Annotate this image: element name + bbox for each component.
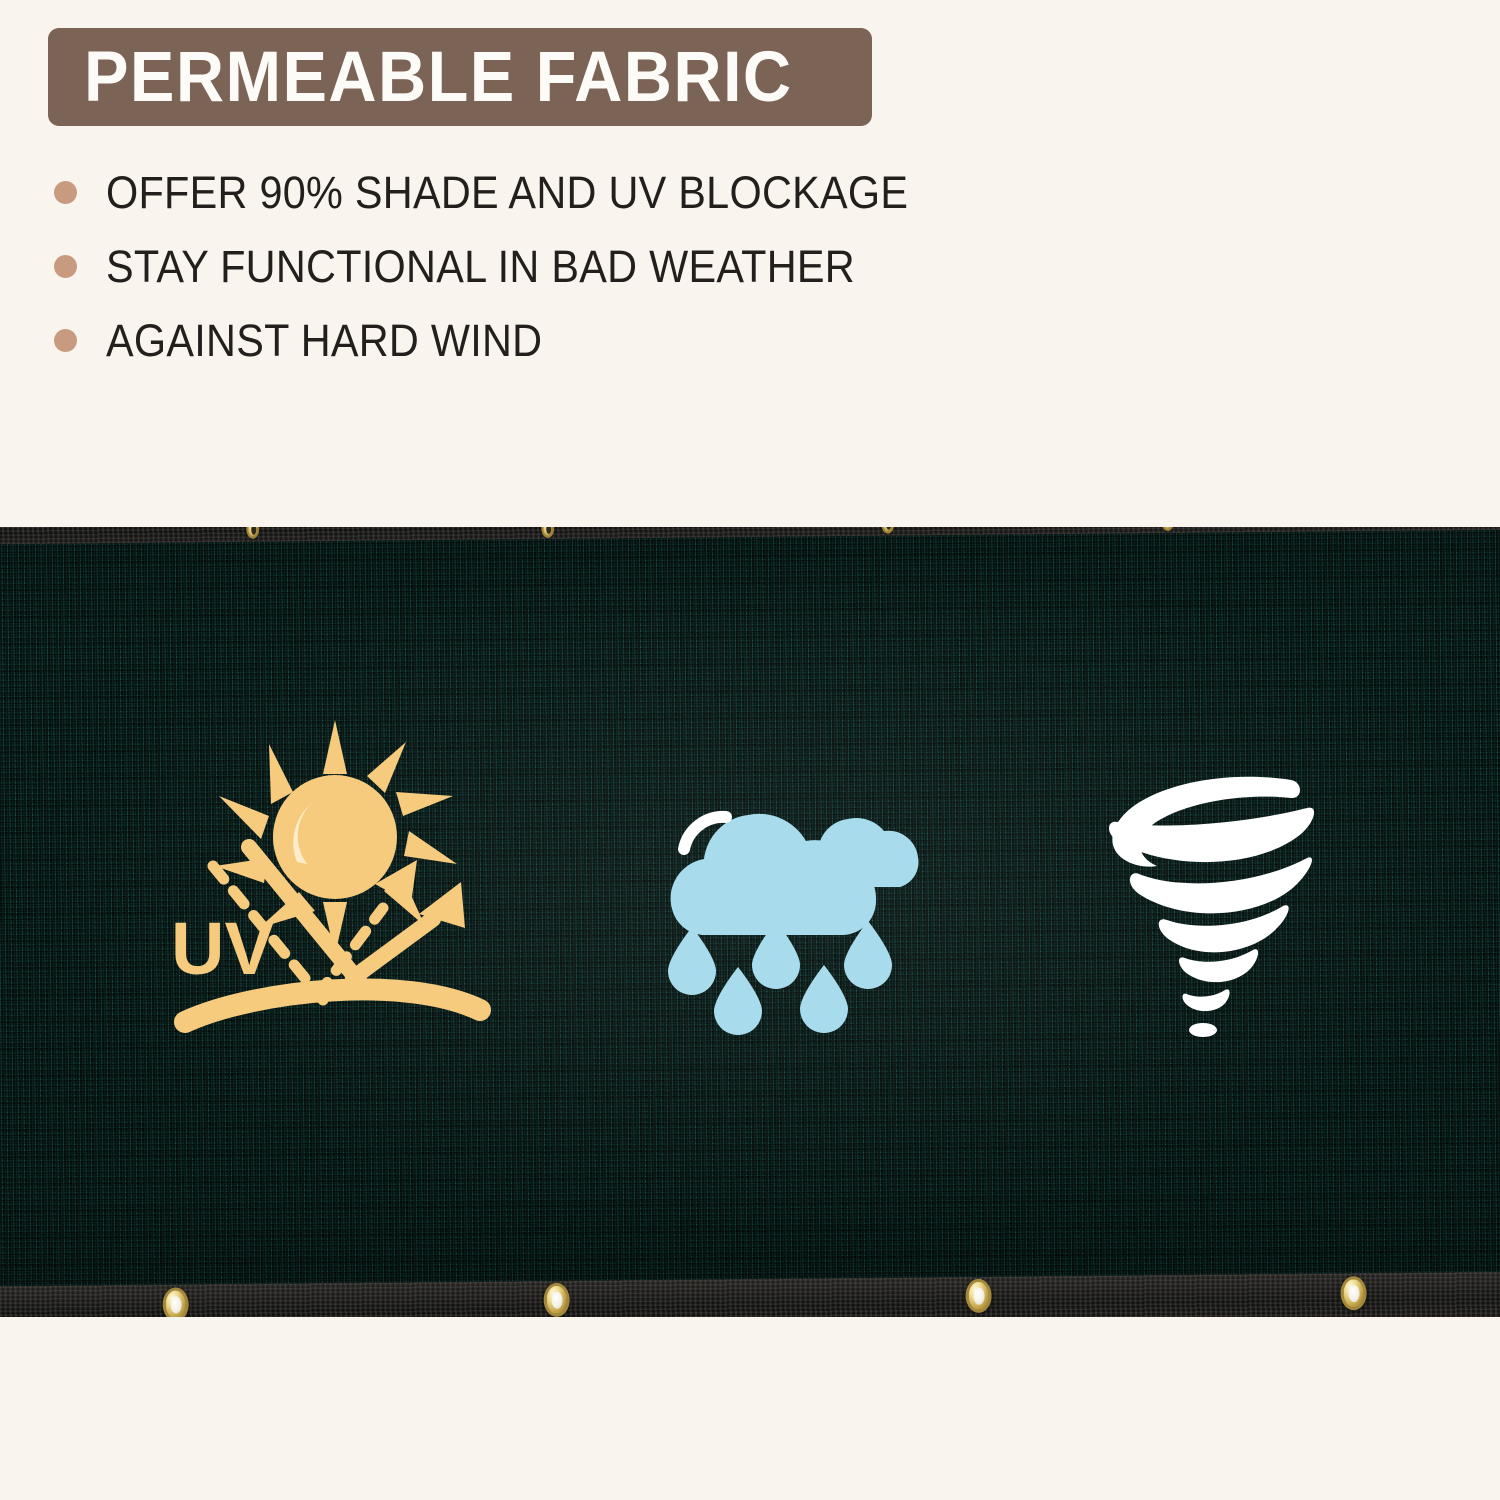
feature-label-1: OFFER 90% SHADE AND UV BLOCKAGE [106, 170, 908, 215]
fabric-sheet [0, 527, 1500, 1317]
grommet-bottom-1 [163, 1287, 189, 1317]
list-item: AGAINST HARD WIND [48, 303, 1248, 377]
feature-label-2: STAY FUNCTIONAL IN BAD WEATHER [106, 244, 855, 289]
grommet-hole [974, 1288, 985, 1305]
grommet-hole [546, 527, 551, 534]
product-photo: UV [0, 527, 1500, 1317]
infographic-page: PERMEABLE FABRIC OFFER 90% SHADE AND UV … [0, 0, 1500, 1500]
bullet-dot-icon [54, 255, 77, 278]
page-title: PERMEABLE FABRIC [84, 42, 793, 113]
bottom-background [0, 1317, 1500, 1500]
grommet-bottom-4 [1340, 1276, 1366, 1310]
grommet-bottom-2 [543, 1283, 569, 1317]
grommet-hole [886, 527, 891, 530]
grommet-hole [251, 527, 256, 535]
list-item: OFFER 90% SHADE AND UV BLOCKAGE [48, 155, 1248, 229]
feature-label-3: AGAINST HARD WIND [106, 318, 542, 363]
list-item: STAY FUNCTIONAL IN BAD WEATHER [48, 229, 1248, 303]
bullet-dot-icon [54, 181, 77, 204]
feature-text-panel: PERMEABLE FABRIC OFFER 90% SHADE AND UV … [0, 0, 1500, 530]
grommet-hole [171, 1296, 182, 1313]
title-banner: PERMEABLE FABRIC [48, 28, 872, 126]
grommet-hole [552, 1292, 563, 1309]
grommet-hole [1349, 1285, 1360, 1302]
grommet-bottom-3 [965, 1279, 991, 1313]
fabric-weave-overlay [0, 527, 1500, 1317]
bullet-dot-icon [54, 329, 77, 352]
feature-list: OFFER 90% SHADE AND UV BLOCKAGE STAY FUN… [48, 155, 1248, 377]
